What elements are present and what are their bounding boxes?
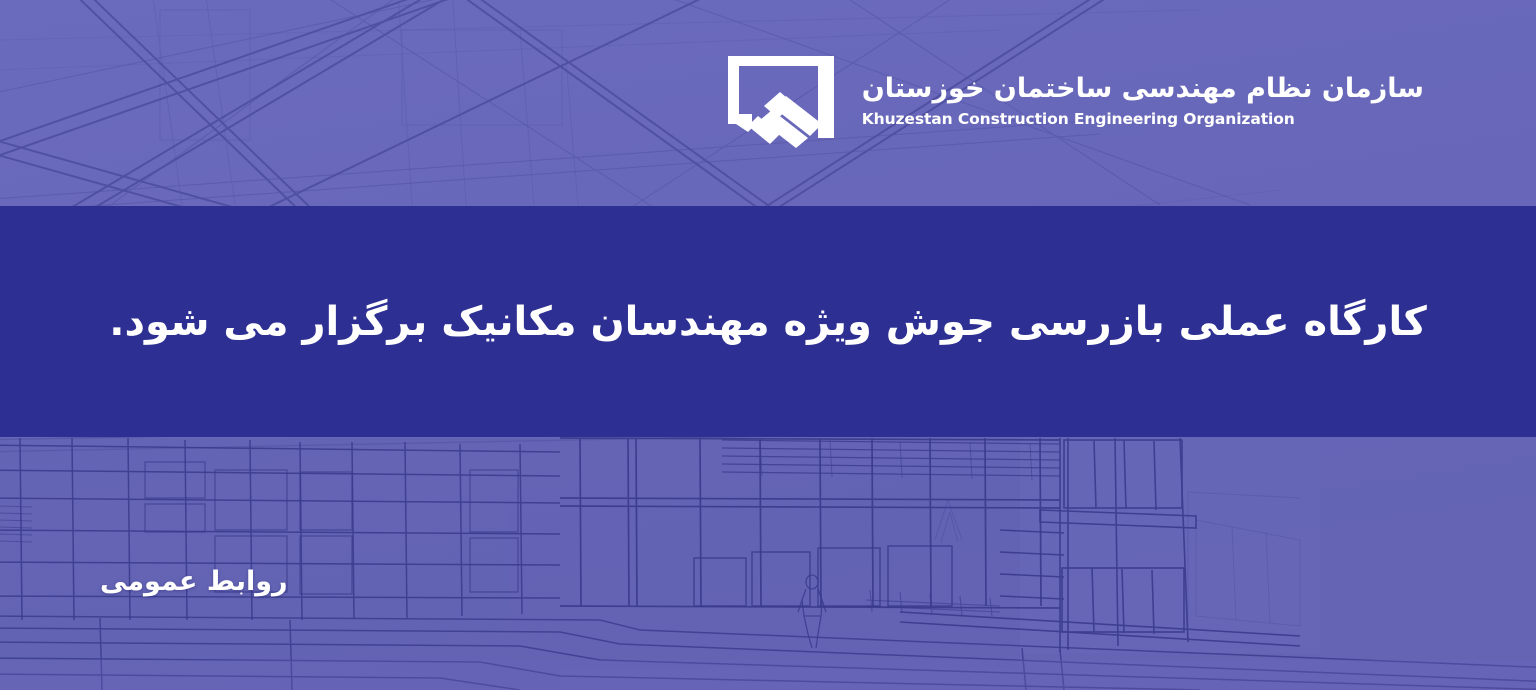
public-relations-signature: روابط عمومی — [100, 566, 288, 597]
news-poster: سازمان نظام مهندسی ساختمان خوزستان Khuze… — [0, 0, 1536, 690]
logo-lockup: سازمان نظام مهندسی ساختمان خوزستان Khuze… — [722, 52, 1424, 150]
building-facade-wireframe — [0, 438, 1536, 690]
organization-name-fa: سازمان نظام مهندسی ساختمان خوزستان — [862, 74, 1424, 104]
headline-text: کارگاه عملی بازرسی جوش ویژه مهندسان مکان… — [69, 293, 1466, 351]
organization-name-en: Khuzestan Construction Engineering Organ… — [862, 111, 1295, 128]
person-silhouette-outline — [798, 575, 826, 648]
logo-text-block: سازمان نظام مهندسی ساختمان خوزستان Khuze… — [862, 74, 1424, 128]
headline-banner: کارگاه عملی بازرسی جوش ویژه مهندسان مکان… — [0, 206, 1536, 437]
khuzestan-engineering-org-logo-icon — [722, 52, 840, 150]
